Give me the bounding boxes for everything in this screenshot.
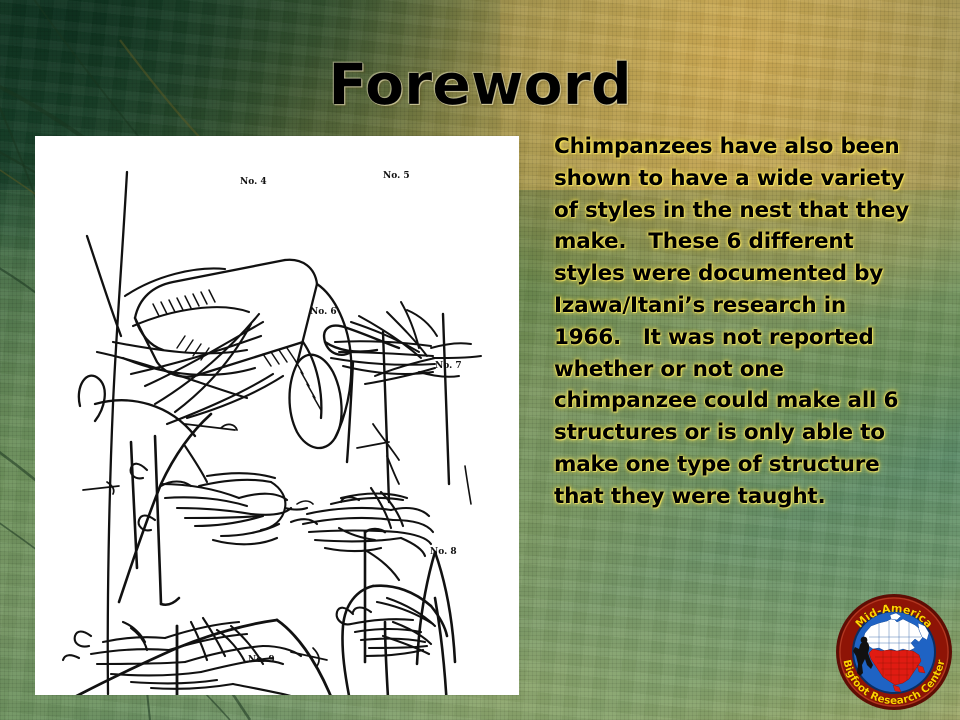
figure-label: No. 6 [310,307,337,317]
body-line: 1966. It was not reported [554,322,954,354]
body-line: that they were taught. [554,481,954,513]
slide: Foreword [0,0,960,720]
mid-america-bigfoot-research-center-logo[interactable]: Mid-America Bigfoot Research Center [835,593,953,711]
body-line: shown to have a wide variety [554,163,954,195]
figure-panel: No. 4 No. 5 No. 6 No. 7 No. 8 No. 9 [35,136,519,695]
body-line: Chimpanzees have also been [554,131,954,163]
body-line: make one type of structure [554,449,954,481]
figure-label: No. 9 [248,655,275,665]
body-line: whether or not one [554,354,954,386]
figure-label: No. 5 [383,171,410,181]
figure-label: No. 7 [435,361,462,371]
body-line: chimpanzee could make all 6 [554,385,954,417]
body-text-block: Chimpanzees have also been shown to have… [554,131,954,513]
body-line: make. These 6 different [554,226,954,258]
body-line: styles were documented by [554,258,954,290]
nest-diagrams: No. 4 No. 5 No. 6 No. 7 No. 8 No. 9 [35,136,519,695]
figure-label: No. 4 [240,177,267,187]
figure-label: No. 8 [430,547,457,557]
page-title: Foreword [0,52,960,118]
body-line: of styles in the nest that they [554,195,954,227]
body-line: structures or is only able to [554,417,954,449]
body-line: Izawa/Itani’s research in [554,290,954,322]
